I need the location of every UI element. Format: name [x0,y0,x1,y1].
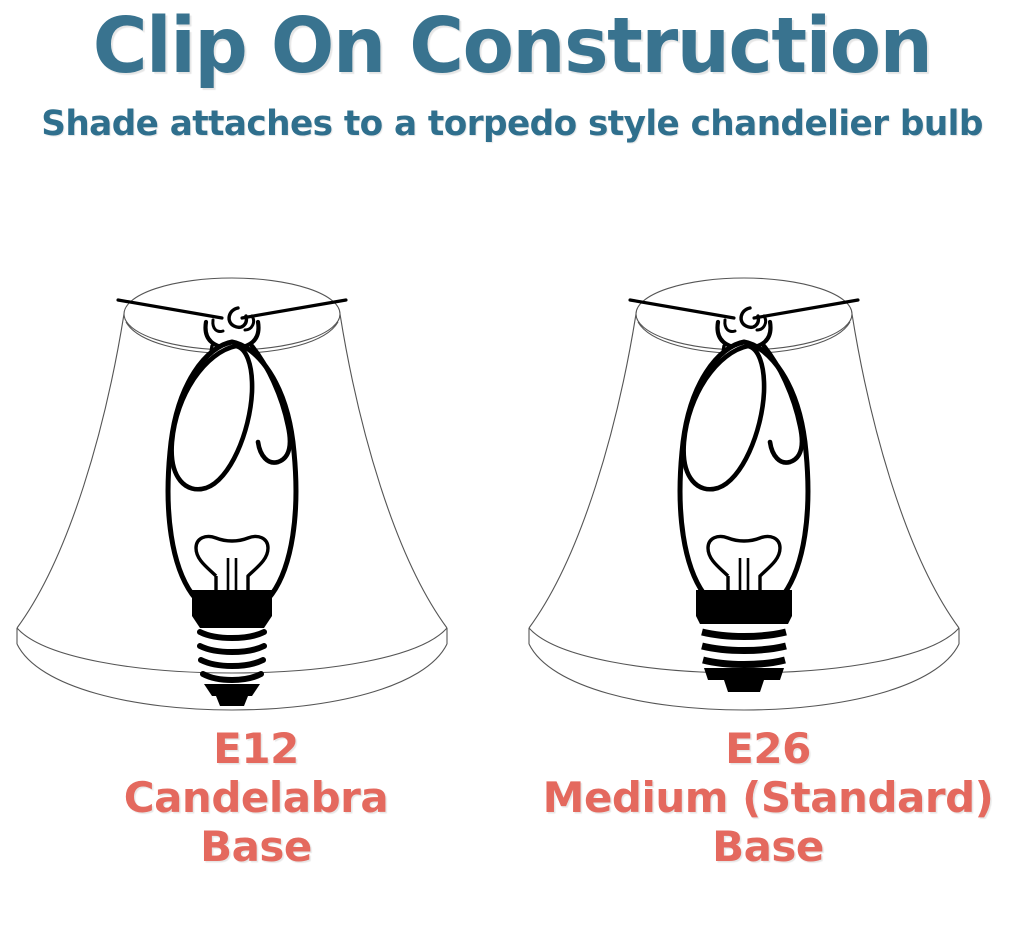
caption-e12-name: Candelabra [0,773,512,822]
heading-block: Clip On Construction Shade attaches to a… [0,0,1024,143]
caption-e12-code: E12 [0,724,512,773]
clip-on-construction-infographic: Clip On Construction Shade attaches to a… [0,0,1024,933]
page-title: Clip On Construction [15,0,1008,87]
lamp-shade-e12-svg [0,236,512,716]
caption-e26: E26 Medium (Standard) Base [512,724,1024,871]
figure-row [0,236,1024,716]
bulb-base-e12 [192,590,272,706]
caption-e26-code: E26 [512,724,1024,773]
caption-e26-name: Medium (Standard) [512,773,1024,822]
caption-row: E12 Candelabra Base E26 Medium (Standard… [0,724,1024,933]
lamp-shade-e12-illustration [0,236,512,716]
caption-e12: E12 Candelabra Base [0,724,512,871]
lamp-shade-e26-illustration [512,236,1024,716]
bulb-base-e26 [696,590,792,692]
bulb-glass-e12 [168,342,296,609]
bulb-glass-e26 [680,342,808,609]
caption-e12-suffix: Base [0,822,512,871]
caption-e26-suffix: Base [512,822,1024,871]
lamp-shade-e26-svg [512,236,1024,716]
page-subtitle: Shade attaches to a torpedo style chande… [10,87,1014,144]
